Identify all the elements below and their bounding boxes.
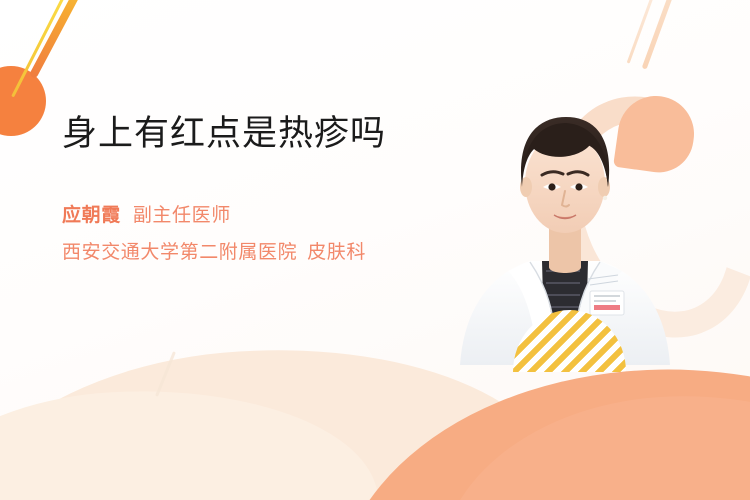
department-name: 皮肤科 [307, 242, 366, 263]
doctor-portrait-photo [450, 95, 680, 365]
cream-wave-shape-secondary [0, 379, 387, 500]
doctor-name: 应朝霞 [62, 205, 121, 226]
doctor-title: 副主任医师 [133, 205, 231, 226]
doctor-credential-line: 应朝霞副主任医师 [62, 201, 432, 230]
video-cover-card: 身上有红点是热疹吗 应朝霞副主任医师 西安交通大学第二附属医院皮肤科 [0, 0, 750, 500]
salmon-wave-shape [326, 352, 750, 500]
orange-diagonal-stroke-icon [29, 0, 91, 79]
salmon-wave-shape-secondary [435, 388, 750, 500]
yellow-diagonal-stroke-icon [11, 0, 74, 97]
doctor-affiliation-line: 西安交通大学第二附属医院皮肤科 [62, 238, 432, 267]
orange-circle-decoration [0, 66, 46, 136]
hospital-name: 西安交通大学第二附属医院 [62, 242, 297, 263]
page-title: 身上有红点是热疹吗 [62, 112, 432, 157]
pale-diagonal-stroke-icon-a [642, 0, 684, 70]
cover-text-block: 身上有红点是热疹吗 应朝霞副主任医师 西安交通大学第二附属医院皮肤科 [62, 112, 432, 268]
pale-diagonal-stroke-icon-b [627, 0, 663, 64]
faint-diagonal-stroke-icon [155, 351, 176, 397]
